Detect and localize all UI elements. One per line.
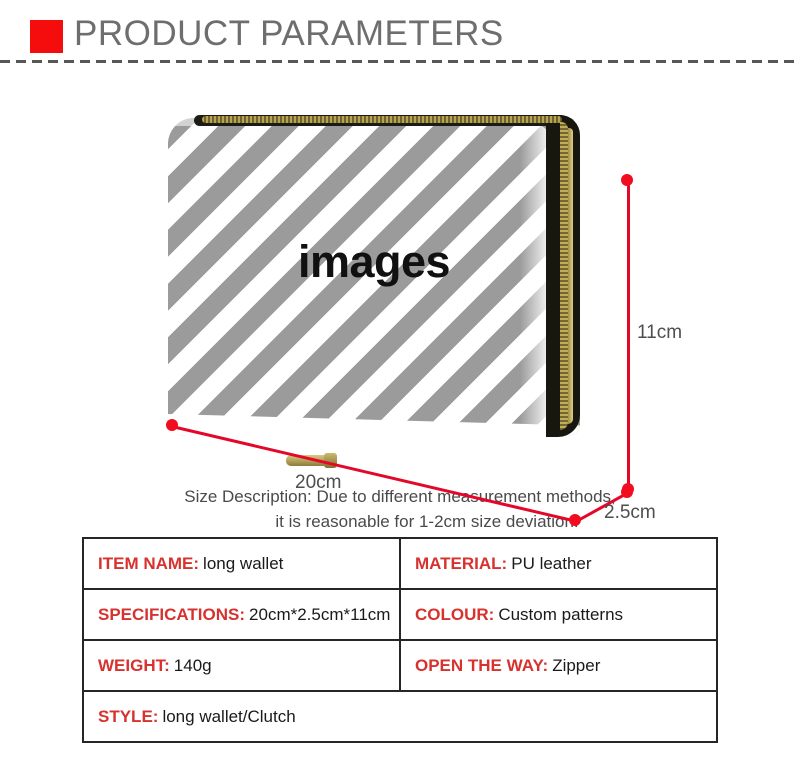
table-cell-item-name: ITEM NAME:long wallet xyxy=(83,538,400,589)
product-illustration: images 11cm 20cm 2.5cm xyxy=(0,62,800,474)
table-cell-style: STYLE:long wallet/Clutch xyxy=(83,691,717,742)
zipper-right-teeth-icon xyxy=(560,122,568,430)
zipper-right-highlight xyxy=(568,128,573,424)
table-row: WEIGHT:140g OPEN THE WAY:Zipper xyxy=(83,640,717,691)
height-dimension-label: 11cm xyxy=(637,322,682,344)
parameters-table: ITEM NAME:long wallet MATERIAL:PU leathe… xyxy=(82,537,718,743)
table-cell-colour: COLOUR:Custom patterns xyxy=(400,589,717,640)
depth-dimension-dot xyxy=(622,483,634,495)
param-value: 20cm*2.5cm*11cm xyxy=(249,605,390,624)
table-cell-material: MATERIAL:PU leather xyxy=(400,538,717,589)
width-dimension-dot-right xyxy=(569,514,581,526)
width-dimension-dot-left xyxy=(166,419,178,431)
table-cell-specifications: SPECIFICATIONS:20cm*2.5cm*11cm xyxy=(83,589,400,640)
image-watermark: images xyxy=(168,236,580,288)
param-key: OPEN THE WAY: xyxy=(415,656,548,675)
param-key: MATERIAL: xyxy=(415,554,507,573)
param-value: Custom patterns xyxy=(498,605,623,624)
table-row: STYLE:long wallet/Clutch xyxy=(83,691,717,742)
depth-dimension-label: 2.5cm xyxy=(604,502,656,524)
page-header: PRODUCT PARAMETERS xyxy=(0,0,800,62)
param-value: long wallet xyxy=(203,554,283,573)
param-key: WEIGHT: xyxy=(98,656,170,675)
param-value: long wallet/Clutch xyxy=(162,707,295,726)
param-value: 140g xyxy=(174,656,212,675)
param-key: ITEM NAME: xyxy=(98,554,199,573)
param-key: SPECIFICATIONS: xyxy=(98,605,245,624)
table-cell-open-the-way: OPEN THE WAY:Zipper xyxy=(400,640,717,691)
width-dimension-label: 20cm xyxy=(295,472,341,494)
parameters-table-body: ITEM NAME:long wallet MATERIAL:PU leathe… xyxy=(83,538,717,742)
red-square-icon xyxy=(30,20,63,53)
table-row: SPECIFICATIONS:20cm*2.5cm*11cm COLOUR:Cu… xyxy=(83,589,717,640)
page-title: PRODUCT PARAMETERS xyxy=(74,10,504,58)
product-parameters-page: PRODUCT PARAMETERS images 11cm 20cm xyxy=(0,0,800,776)
param-value: Zipper xyxy=(552,656,600,675)
height-dimension-line xyxy=(627,180,630,492)
param-key: COLOUR: xyxy=(415,605,494,624)
table-row: ITEM NAME:long wallet MATERIAL:PU leathe… xyxy=(83,538,717,589)
param-key: STYLE: xyxy=(98,707,158,726)
zipper-top-teeth-icon xyxy=(202,116,562,123)
table-cell-weight: WEIGHT:140g xyxy=(83,640,400,691)
param-value: PU leather xyxy=(511,554,591,573)
size-description-line-1: Size Description: Due to different measu… xyxy=(184,487,616,506)
height-dimension-dot-top xyxy=(621,174,633,186)
wallet-product-image: images xyxy=(168,118,580,436)
